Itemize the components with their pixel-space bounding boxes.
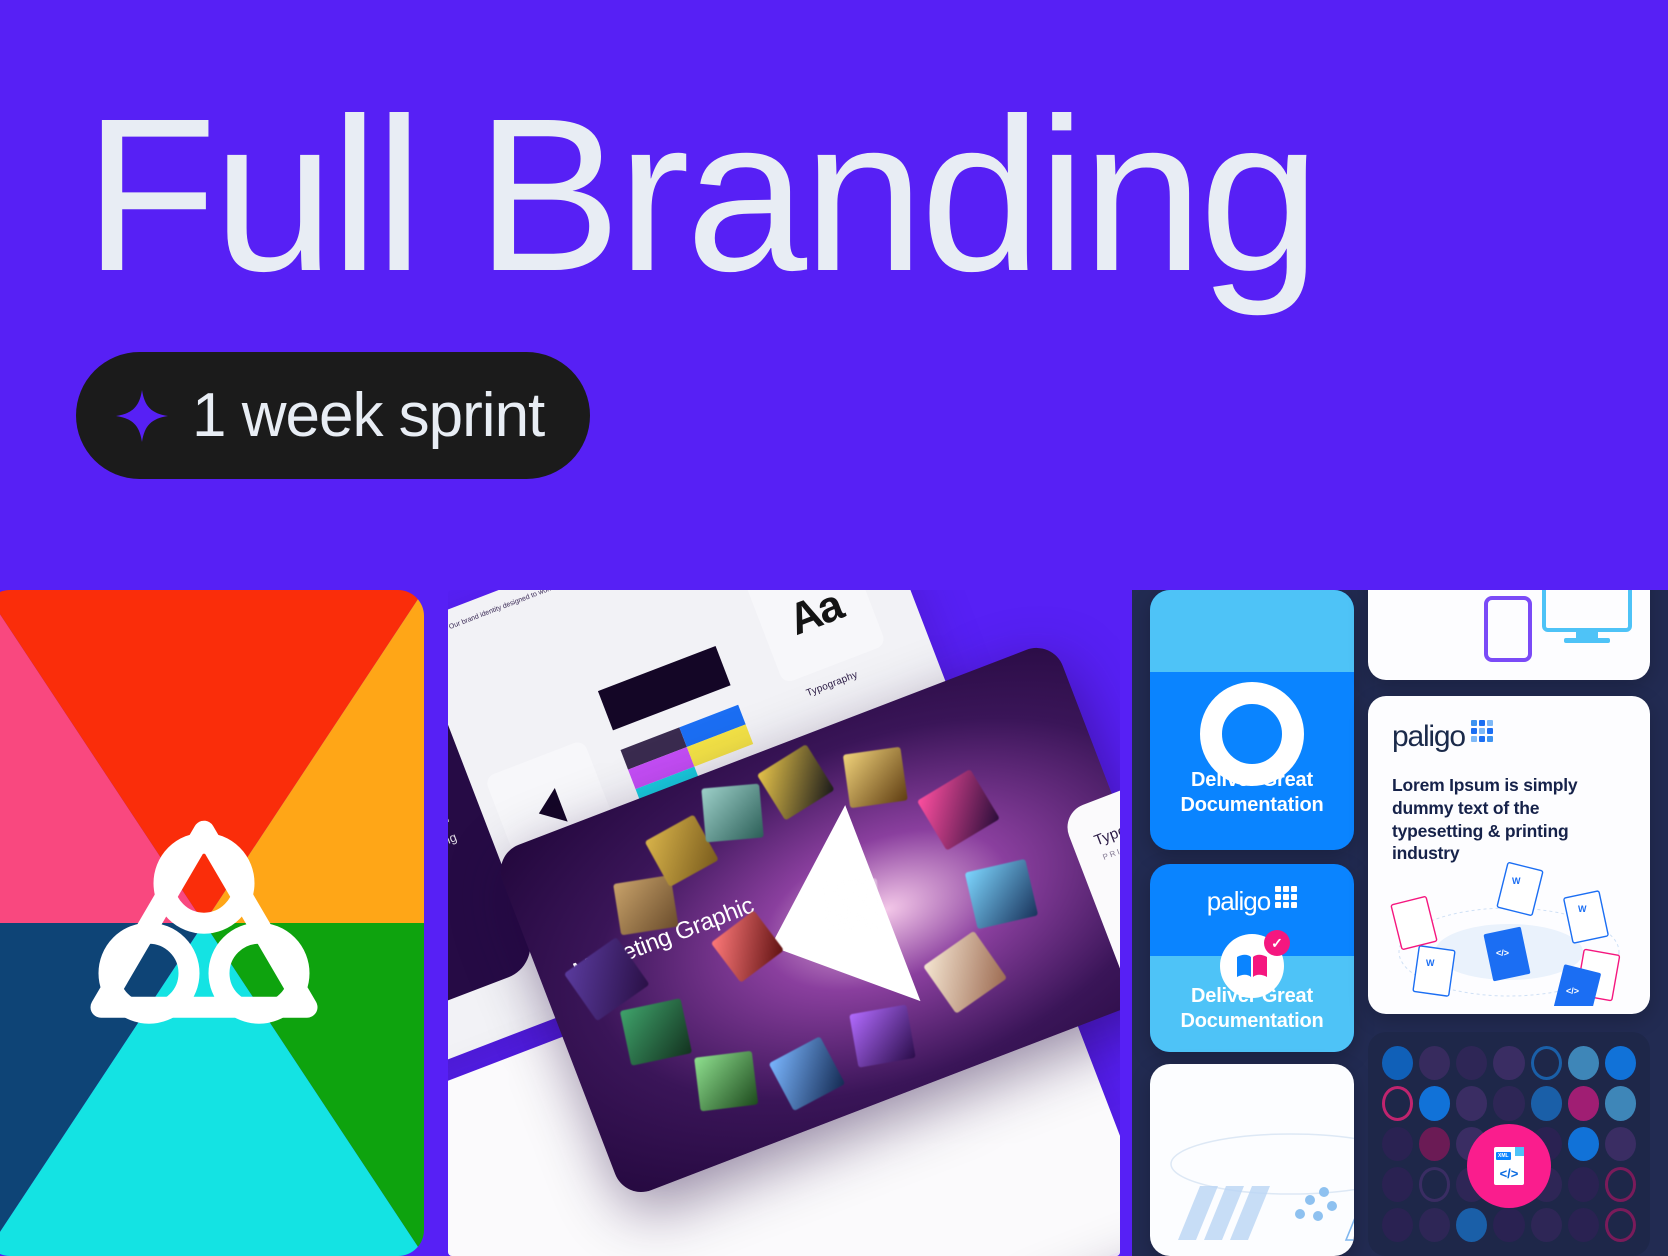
- color-wheel-card[interactable]: [0, 590, 424, 1256]
- showcase-row: Our brand identity designed to work harm…: [0, 590, 1668, 1256]
- funnel-card[interactable]: [1150, 1064, 1354, 1256]
- paligo-documentation-cards: Deliver Great Documentation paligo: [1132, 590, 1668, 1256]
- sprint-badge-label: 1 week sprint: [192, 380, 544, 451]
- hero-section: Full Branding 1 week sprint: [0, 0, 1668, 590]
- triangle-circles-logo: [79, 811, 329, 1026]
- devices-outline-icon: [1368, 590, 1650, 680]
- svg-text:W: W: [1426, 958, 1435, 968]
- devices-card[interactable]: [1368, 590, 1650, 680]
- paligo-lorem-card[interactable]: paligo Lorem Ipsum is simply dummy text …: [1368, 696, 1650, 1014]
- aa-glyph: Aa: [782, 590, 849, 646]
- page-title: Full Branding: [84, 96, 1316, 297]
- floating-documents-illustration: WWW </></>: [1382, 856, 1636, 1006]
- xml-file-glyph: XML </>: [1494, 1147, 1524, 1185]
- deliver-great-documentation-ring-card[interactable]: Deliver Great Documentation: [1150, 590, 1354, 850]
- svg-text:</>: </>: [1566, 986, 1579, 996]
- sprint-badge[interactable]: 1 week sprint: [76, 352, 590, 479]
- svg-text:W: W: [1578, 904, 1587, 914]
- poster-root: Full Branding 1 week sprint: [0, 0, 1668, 1256]
- code-glyph: </>: [1494, 1166, 1524, 1181]
- svg-text:</>: </>: [1496, 948, 1509, 958]
- paligo-logo: paligo: [1150, 886, 1354, 917]
- book-card-headline: Deliver Great Documentation: [1150, 984, 1354, 1034]
- paligo-dots-icon: [1275, 886, 1297, 908]
- file-fold: [1515, 1147, 1524, 1156]
- paligo-dots-icon: [1471, 720, 1493, 742]
- xml-code-file-icon: XML </>: [1467, 1124, 1551, 1208]
- ring-card-headline: Deliver Great Documentation: [1150, 768, 1354, 818]
- brand-intro-body: Our readable guide to our brand's visual…: [448, 806, 471, 964]
- sparkle-icon: [114, 388, 170, 444]
- xml-file-label: XML: [1496, 1152, 1511, 1160]
- paligo-book-card[interactable]: paligo ✓ Deliver Great Documentatio: [1150, 864, 1354, 1052]
- paligo-wordmark: paligo: [1207, 886, 1270, 917]
- paligo-wordmark: paligo: [1392, 720, 1465, 754]
- book-glyph: [1235, 953, 1269, 979]
- card-top-band: [1150, 590, 1354, 672]
- paligo-logo: paligo: [1392, 720, 1493, 754]
- funnel-pages-illustration: [1160, 1130, 1354, 1250]
- paligo-lorem-headline: Lorem Ipsum is simply dummy text of the …: [1392, 774, 1622, 865]
- check-icon: ✓: [1264, 930, 1290, 956]
- brand-guideline-mockup[interactable]: Our brand identity designed to work harm…: [448, 590, 1120, 1256]
- xml-dots-card[interactable]: XML </>: [1368, 1032, 1650, 1256]
- svg-text:W: W: [1512, 876, 1521, 886]
